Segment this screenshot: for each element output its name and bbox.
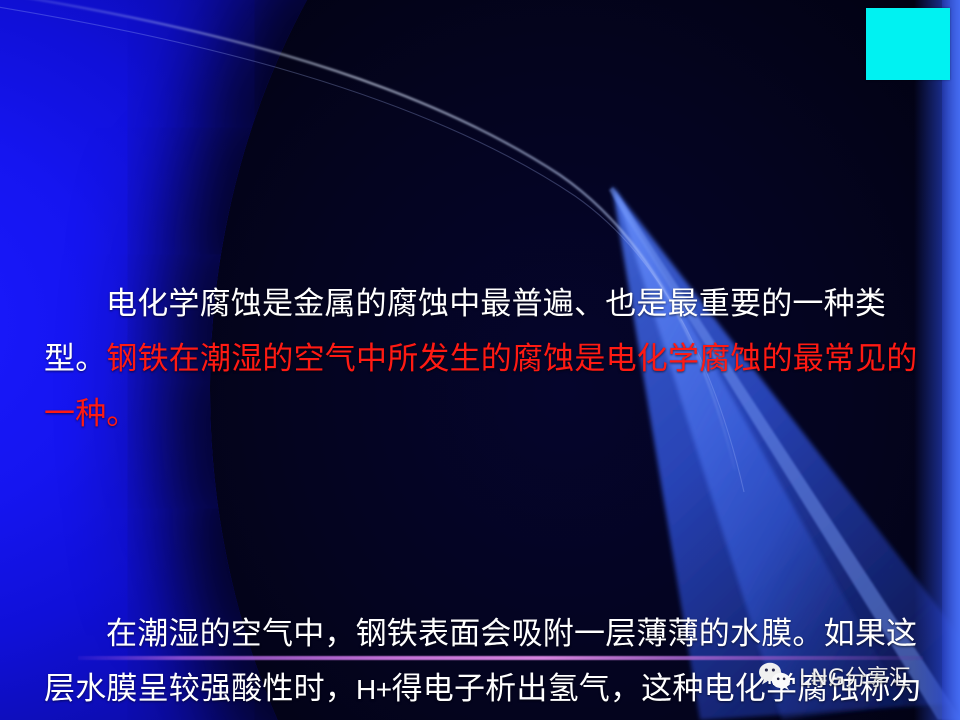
wechat-icon — [758, 661, 792, 691]
paragraph-1: 电化学腐蚀是金属的腐蚀中最普遍、也是最重要的一种类型。钢铁在潮湿的空气中所发生的… — [44, 277, 924, 442]
cyan-accent-box — [866, 8, 950, 80]
formula-h-plus: H+ — [356, 674, 392, 705]
watermark-label: LNG分享汇 — [799, 660, 911, 692]
p1-line1: 电化学腐蚀是金属的腐蚀中最普遍、也是最重要的一种 — [106, 286, 855, 322]
watermark: LNG分享汇 — [758, 660, 911, 692]
right-edge-highlight — [942, 0, 960, 720]
p2-line2-b: 得电子析出氢气，这种电化学 — [392, 671, 798, 707]
p1-line2-highlight: 钢铁在潮湿的空气中所发生的腐蚀是电化学腐蚀的最 — [106, 341, 824, 377]
slide-canvas: 电化学腐蚀是金属的腐蚀中最普遍、也是最重要的一种类型。钢铁在潮湿的空气中所发生的… — [0, 0, 960, 720]
slide-body-text: 电化学腐蚀是金属的腐蚀中最普遍、也是最重要的一种类型。钢铁在潮湿的空气中所发生的… — [44, 112, 924, 720]
p2-line1: 在潮湿的空气中，钢铁表面会吸附一层薄薄的水膜。如 — [106, 616, 855, 652]
